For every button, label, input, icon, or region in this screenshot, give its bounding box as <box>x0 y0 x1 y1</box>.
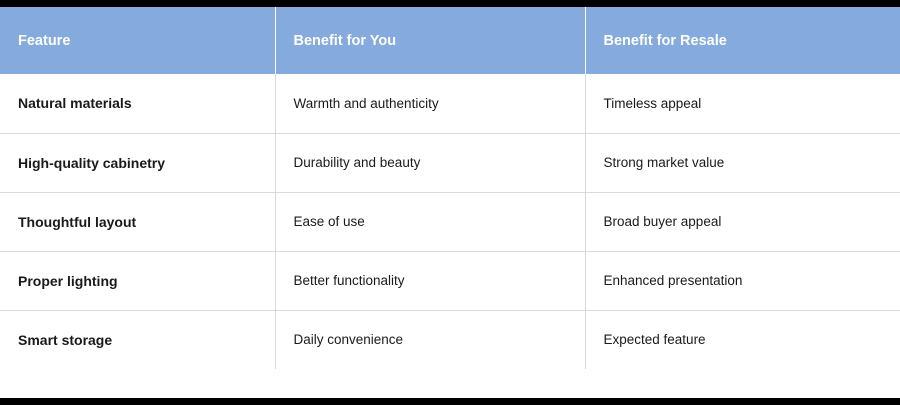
table-header: Feature Benefit for You Benefit for Resa… <box>0 7 900 74</box>
cell-benefit-resale: Expected feature <box>585 310 900 369</box>
cell-feature: Proper lighting <box>0 251 275 310</box>
table-row: Thoughtful layout Ease of use Broad buye… <box>0 192 900 251</box>
table-body: Natural materials Warmth and authenticit… <box>0 74 900 369</box>
table-row: Natural materials Warmth and authenticit… <box>0 74 900 133</box>
cell-benefit-you: Daily convenience <box>275 310 585 369</box>
cell-feature: High-quality cabinetry <box>0 133 275 192</box>
cell-benefit-resale: Strong market value <box>585 133 900 192</box>
column-header-feature: Feature <box>0 7 275 74</box>
cell-benefit-resale: Broad buyer appeal <box>585 192 900 251</box>
table-row: Smart storage Daily convenience Expected… <box>0 310 900 369</box>
table-row: High-quality cabinetry Durability and be… <box>0 133 900 192</box>
cell-feature: Smart storage <box>0 310 275 369</box>
cell-feature: Natural materials <box>0 74 275 133</box>
cell-benefit-you: Better functionality <box>275 251 585 310</box>
document-page: Feature Benefit for You Benefit for Resa… <box>0 7 900 398</box>
table-header-row: Feature Benefit for You Benefit for Resa… <box>0 7 900 74</box>
table-row: Proper lighting Better functionality Enh… <box>0 251 900 310</box>
cell-feature: Thoughtful layout <box>0 192 275 251</box>
cell-benefit-resale: Timeless appeal <box>585 74 900 133</box>
cell-benefit-you: Ease of use <box>275 192 585 251</box>
cell-benefit-you: Durability and beauty <box>275 133 585 192</box>
benefits-table: Feature Benefit for You Benefit for Resa… <box>0 7 900 369</box>
cell-benefit-you: Warmth and authenticity <box>275 74 585 133</box>
column-header-benefit-for-you: Benefit for You <box>275 7 585 74</box>
column-header-benefit-for-resale: Benefit for Resale <box>585 7 900 74</box>
cell-benefit-resale: Enhanced presentation <box>585 251 900 310</box>
